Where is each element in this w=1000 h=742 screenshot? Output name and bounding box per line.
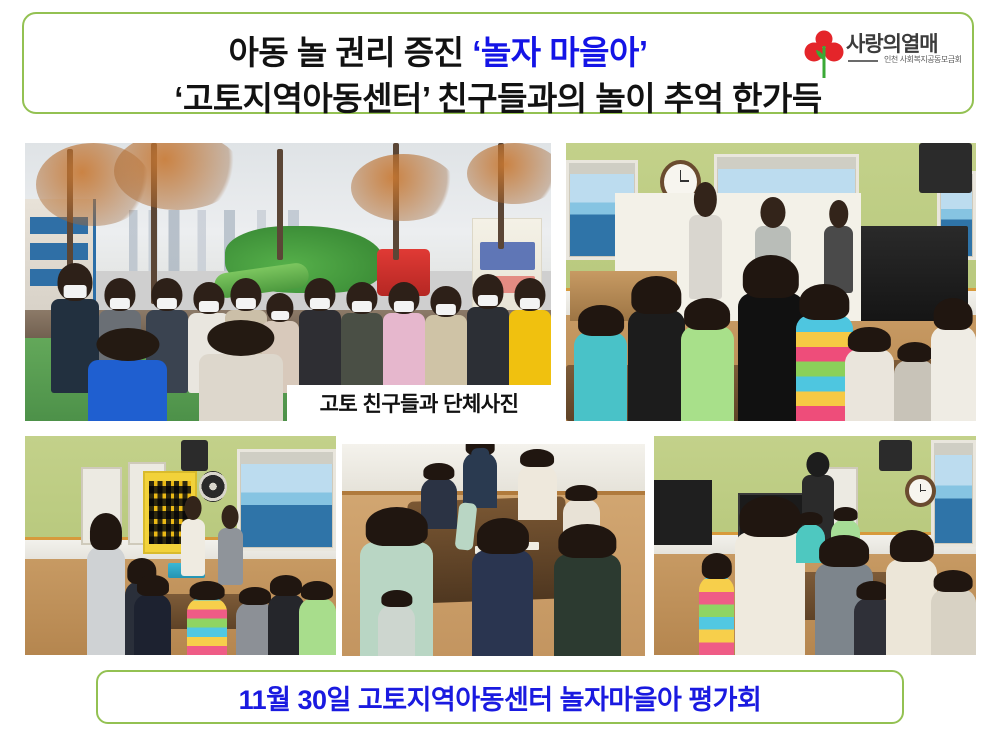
header-banner: 아동 놀 권리 증진 ‘놀자 마을아’ ‘고토지역아동센터’ 친구들과의 놀이 …: [22, 12, 974, 114]
photo-group-outdoor: 고토 친구들과 단체사진: [25, 143, 551, 421]
sponsor-logo: 사랑의열매 인천 사회복지공동모금회: [800, 24, 962, 86]
photo-board-activity: [25, 436, 336, 655]
page-title-line-1-highlight: ‘놀자 마을아’: [472, 34, 647, 71]
sponsor-logo-rule: [848, 60, 878, 62]
photo-group-caption-text: 고토 친구들과 단체사진: [320, 388, 519, 418]
page-title-line-1-black: 아동 놀 권리 증진: [228, 34, 472, 71]
photo-circle-activity: [654, 436, 976, 655]
photo-group-caption: 고토 친구들과 단체사진: [287, 385, 551, 421]
three-red-berries-icon: [804, 30, 844, 80]
photo-table-scene: [342, 444, 645, 656]
footer-banner: 11월 30일 고토지역아동센터 놀자마을아 평가회: [96, 670, 904, 724]
photo-group-scene: [25, 143, 551, 421]
photo-classroom-discussion: [566, 143, 976, 421]
photo-table-hands-up: [342, 444, 645, 656]
photo-circle-scene: [654, 436, 976, 655]
photo-board-scene: [25, 436, 336, 655]
photo-classroom-scene: [566, 143, 976, 421]
sponsor-logo-subtitle: 인천 사회복지공동모금회: [884, 54, 962, 65]
footer-banner-text: 11월 30일 고토지역아동센터 놀자마을아 평가회: [239, 678, 762, 717]
